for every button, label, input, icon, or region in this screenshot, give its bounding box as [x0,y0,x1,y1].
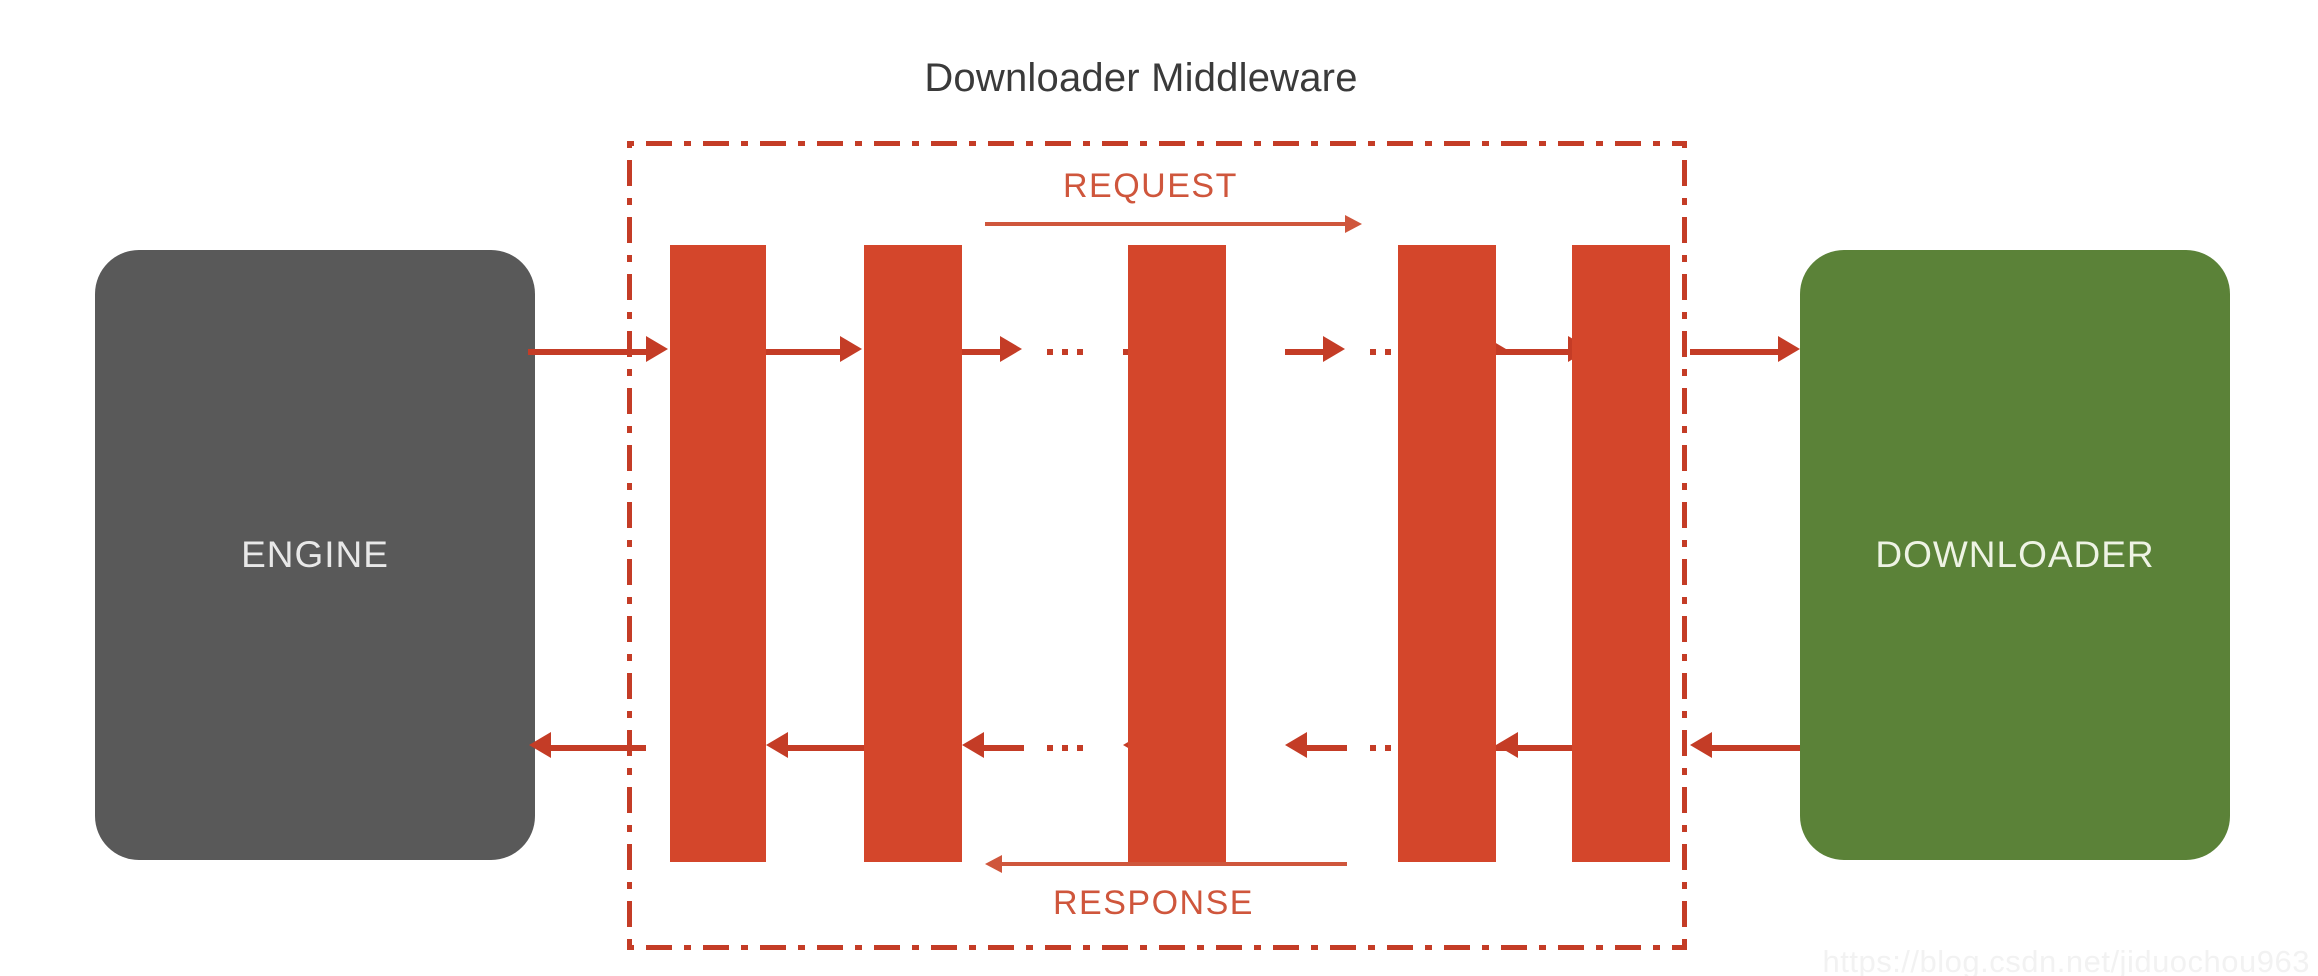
container-border-bottom [627,945,1687,950]
response-arrowhead-3a [1285,732,1307,758]
request-segment-4 [1496,349,1568,355]
middleware-bar-4 [1398,245,1496,862]
watermark: https://blog.csdn.net/jiduochou963 [1822,944,2310,976]
response-segment-3a [1307,745,1347,751]
request-arrowhead-2a [1000,336,1022,362]
request-arrowhead-1 [840,336,862,362]
response-flow-line [1002,862,1347,866]
request-flow-label: REQUEST [1063,167,1238,206]
response-segment-2a [984,745,1024,751]
response-arrowhead-entry [1690,732,1712,758]
response-flow-label: RESPONSE [1053,884,1254,923]
node-engine-label: ENGINE [241,534,389,576]
request-segment-2a [962,349,1000,355]
middleware-bar-1 [670,245,766,862]
request-arrowhead-entry [646,336,668,362]
middleware-bar-3 [1128,245,1226,862]
request-ellipsis-1 [1047,349,1083,355]
request-flow-line [985,222,1345,226]
container-border-top [627,141,1687,146]
middleware-bar-2 [864,245,962,862]
diagram-canvas: Downloader Middleware ENGINE DOWNLOADER [0,0,2318,976]
container-border-right [1682,141,1687,950]
response-ellipsis-1 [1047,745,1083,751]
middleware-bar-5 [1572,245,1670,862]
response-segment-exit [551,745,646,751]
container-border-left [627,141,632,950]
request-segment-exit [1690,349,1778,355]
page-title: Downloader Middleware [0,56,2318,101]
response-arrowhead-exit [529,732,551,758]
response-flow-arrowhead [985,855,1002,873]
request-segment-entry [528,349,646,355]
request-arrowhead-3a [1323,336,1345,362]
response-arrowhead-4 [1496,732,1518,758]
node-downloader: DOWNLOADER [1800,250,2230,860]
request-flow-arrowhead [1345,215,1362,233]
page-title-text: Downloader Middleware [924,56,1357,100]
response-segment-1 [788,745,864,751]
response-arrowhead-1 [766,732,788,758]
request-segment-1 [766,349,840,355]
request-arrowhead-exit [1778,336,1800,362]
response-arrowhead-2a [962,732,984,758]
node-downloader-label: DOWNLOADER [1875,534,2154,576]
node-engine: ENGINE [95,250,535,860]
response-segment-entry [1712,745,1800,751]
request-segment-3a [1285,349,1323,355]
